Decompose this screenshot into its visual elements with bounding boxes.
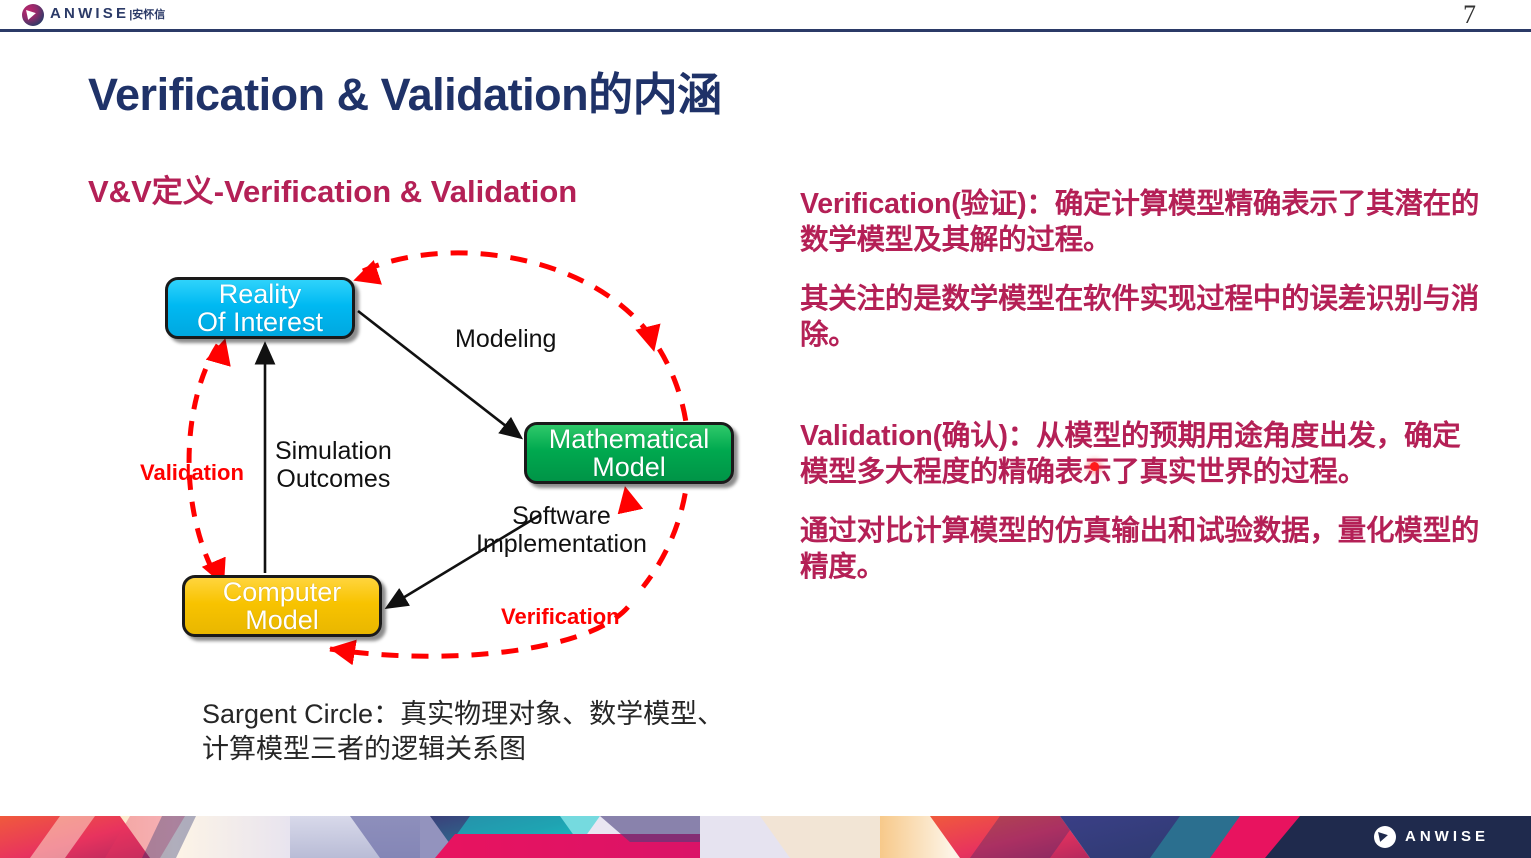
label-validation: Validation	[140, 460, 244, 486]
node-mathematical-model[interactable]: Mathematical Model	[524, 422, 734, 484]
sargent-circle-diagram: Reality Of Interest Mathematical Model C…	[120, 215, 780, 685]
paragraph-validation-method: 通过对比计算模型的仿真输出和试验数据，量化模型的精度。	[800, 513, 1480, 586]
paragraph-validation-definition: Validation(确认)：从模型的预期用途角度出发，确定模型多大程度的精确表…	[800, 418, 1480, 491]
node-computer-line1: Computer	[223, 578, 342, 606]
label-simulation-outcomes: Simulation Outcomes	[275, 437, 392, 493]
page-title: Verification & Validation的内涵	[88, 58, 722, 123]
loop-verification-arrow-computer	[334, 649, 352, 652]
diagram-caption: Sargent Circle：真实物理对象、数学模型、计算模型三者的逻辑关系图	[202, 697, 742, 766]
anwise-logo-icon	[22, 4, 44, 26]
loop-verification-arrow-math	[650, 335, 653, 347]
node-computer-line2: Model	[245, 606, 319, 634]
label-simulation-line1: Simulation	[275, 437, 392, 465]
paragraph-verification-definition: Verification(验证)：确定计算模型精确表示了其潜在的数学模型及其解的…	[800, 186, 1480, 259]
footer-brand-text: ANWISE	[1405, 826, 1489, 848]
slide-footer: ANWISE	[0, 816, 1531, 858]
brand-name-cn: 安怀信	[132, 9, 165, 21]
brand-logo: ANWISE|安怀信	[22, 3, 165, 26]
paragraph-spacer	[800, 376, 1480, 418]
node-math-line1: Mathematical	[549, 425, 710, 453]
node-computer-model[interactable]: Computer Model	[182, 575, 382, 637]
section-title: V&V定义-Verification & Validation	[88, 166, 577, 211]
slide-header: ANWISE|安怀信 7	[0, 0, 1531, 30]
footer-brand-logo: ANWISE	[1374, 826, 1489, 848]
anwise-footer-logo-icon	[1374, 826, 1396, 848]
loop-verification-arrow-reality	[358, 275, 370, 279]
node-reality-line1: Reality	[219, 280, 302, 308]
slide: ANWISE|安怀信 7 Verification & Validation的内…	[0, 0, 1531, 858]
label-software-line1: Software	[476, 502, 647, 530]
footer-decoration	[0, 816, 1531, 858]
paragraph-verification-focus: 其关注的是数学模型在软件实现过程中的误差识别与消除。	[800, 281, 1480, 354]
label-simulation-line2: Outcomes	[275, 465, 392, 493]
label-verification: Verification	[501, 604, 620, 630]
header-divider	[0, 29, 1531, 32]
brand-logo-text: ANWISE|安怀信	[50, 3, 165, 26]
definitions-panel: Verification(验证)：确定计算模型精确表示了其潜在的数学模型及其解的…	[800, 186, 1480, 608]
node-reality-of-interest[interactable]: Reality Of Interest	[165, 277, 355, 339]
node-math-line2: Model	[592, 453, 666, 481]
label-software-implementation: Software Implementation	[476, 502, 647, 558]
label-modeling: Modeling	[455, 325, 556, 353]
laser-pointer-cursor	[1090, 462, 1099, 471]
label-software-line2: Implementation	[476, 530, 647, 558]
brand-name-en: ANWISE	[50, 5, 129, 22]
loop-validation-arrow-reality	[220, 343, 224, 357]
page-number: 7	[1463, 0, 1476, 30]
node-reality-line2: Of Interest	[197, 308, 323, 336]
